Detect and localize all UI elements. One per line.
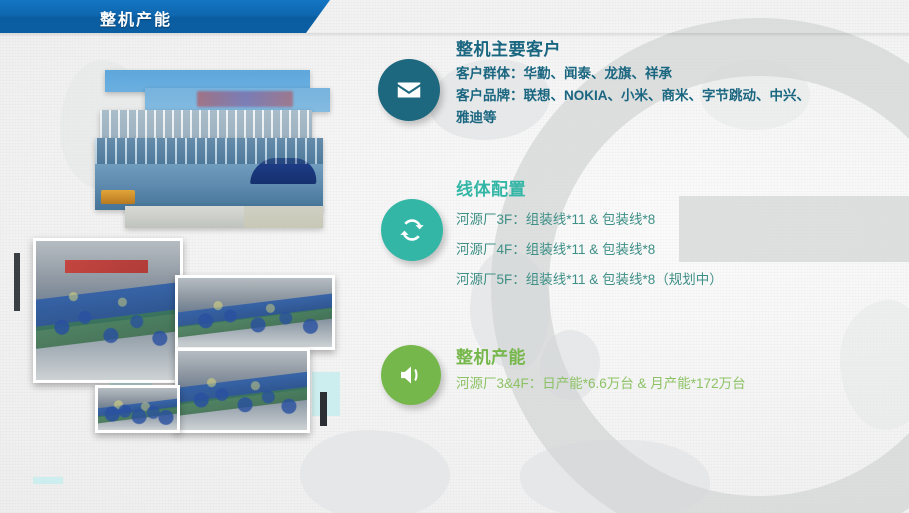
body-line: 河源厂4F：组装线*11 & 包装线*8 xyxy=(456,235,723,265)
section-body: 河源厂3&4F：日产能*6.6万台 & 月产能*172万台 xyxy=(456,371,746,397)
body-line: 河源厂3&4F：日产能*6.6万台 & 月产能*172万台 xyxy=(456,371,746,397)
production-line-collage xyxy=(25,230,345,435)
body-line: 河源厂5F：组装线*11 & 包装线*8（规划中） xyxy=(456,265,723,295)
body-line: 河源厂3F：组装线*11 & 包装线*8 xyxy=(456,205,723,235)
production-line-photo xyxy=(95,385,180,433)
body-line: 客户群体：华勤、闻泰、龙旗、祥承 xyxy=(456,63,846,85)
world-map-shape xyxy=(300,430,450,513)
photo-slice xyxy=(145,88,330,112)
factory-building-collage xyxy=(95,70,330,225)
body-line: 客户品牌：联想、NOKIA、小米、商米、字节跳动、中兴、 xyxy=(456,85,846,107)
section-line-config: 线体配置 河源厂3F：组装线*11 & 包装线*8 河源厂4F：组装线*11 &… xyxy=(378,175,838,295)
page-title: 整机产能 xyxy=(100,6,172,30)
workers-shape xyxy=(98,388,177,430)
awning-shape xyxy=(250,158,318,184)
envelope-icon xyxy=(378,59,440,121)
production-line-photo xyxy=(33,238,183,383)
workers-shape xyxy=(36,241,180,380)
section-body: 河源厂3F：组装线*11 & 包装线*8 河源厂4F：组装线*11 & 包装线*… xyxy=(456,205,723,295)
photo-slice xyxy=(125,206,323,228)
section-title: 线体配置 xyxy=(456,175,526,200)
slide: 整机产能 xyxy=(0,0,909,513)
section-capacity: 整机产能 河源厂3&4F：日产能*6.6万台 & 月产能*172万台 xyxy=(378,335,838,425)
workers-shape xyxy=(178,278,332,347)
section-customers: 整机主要客户 客户群体：华勤、闻泰、龙旗、祥承 客户品牌：联想、NOKIA、小米… xyxy=(378,35,838,145)
photo-slice xyxy=(95,138,323,210)
section-title: 整机主要客户 xyxy=(456,35,561,60)
sync-refresh-icon xyxy=(381,199,443,261)
vehicle-shape xyxy=(101,190,135,204)
speaker-volume-icon xyxy=(381,345,441,405)
accent-bar-dark xyxy=(14,253,20,311)
workers-shape xyxy=(178,351,307,430)
production-line-photo xyxy=(175,348,310,433)
accent-bar-cyan xyxy=(33,477,63,484)
body-line: 雅迪等 xyxy=(456,107,846,129)
production-line-photo xyxy=(175,275,335,350)
section-title: 整机产能 xyxy=(456,343,526,368)
section-body: 客户群体：华勤、闻泰、龙旗、祥承 客户品牌：联想、NOKIA、小米、商米、字节跳… xyxy=(456,63,846,129)
